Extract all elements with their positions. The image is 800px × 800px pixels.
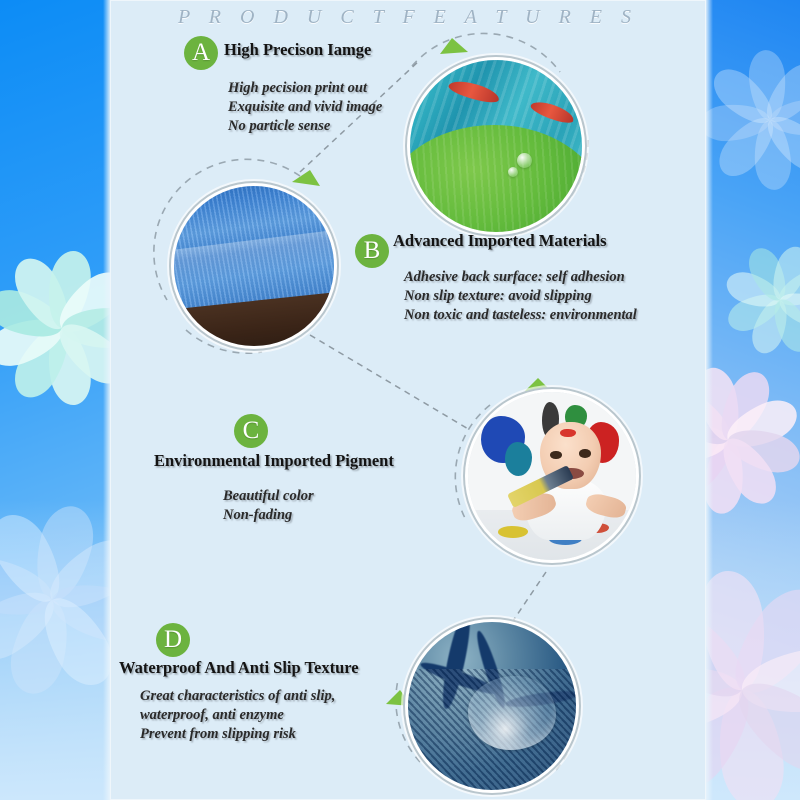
badge-c: C [234,414,268,448]
line-d-1: Great characteristics of anti slip, [140,687,335,706]
line-d-3: Prevent from slipping risk [140,725,335,744]
paint-splatter-teal [505,442,532,476]
line-d-2: waterproof, anti enzyme [140,706,335,725]
line-b-3: Non toxic and tasteless: environmental [404,306,637,325]
line-b-1: Adhesive back surface: self adhesion [404,268,637,287]
panel-edge-left [103,0,110,800]
baby-eye-right [579,449,591,457]
product-features-infographic: P R O D U C T F E A T U R E S A High Pre… [0,0,800,800]
water-droplet-d [468,676,555,750]
lines-a: High pecision print out Exquisite and vi… [228,79,382,136]
heading-c: Environmental Imported Pigment [154,451,394,471]
lines-d: Great characteristics of anti slip, wate… [140,687,335,744]
line-c-2: Non-fading [223,506,314,525]
line-a-2: Exquisite and vivid image [228,98,382,117]
line-c-1: Beautiful color [223,487,314,506]
heading-a: High Precison Iamge [224,40,371,60]
lines-c: Beautiful color Non-fading [223,487,314,525]
lines-b: Adhesive back surface: self adhesion Non… [404,268,637,325]
heading-b: Advanced Imported Materials [393,231,607,251]
photo-blue-fabric [174,186,334,346]
panel-edge-right [706,0,713,800]
photo-water-droplet-texture [408,622,576,790]
page-title: P R O D U C T F E A T U R E S [110,6,706,29]
badge-a: A [184,36,218,70]
line-a-1: High pecision print out [228,79,382,98]
photo-painting-baby [468,392,636,560]
lily-pad [410,125,582,232]
photo-koi-pond [410,60,582,232]
flower-petal [780,294,800,351]
line-a-3: No particle sense [228,117,382,136]
heading-d: Waterproof And Anti Slip Texture [119,658,359,678]
badge-b: B [355,234,389,268]
badge-d: D [156,623,190,657]
line-b-2: Non slip texture: avoid slipping [404,287,637,306]
